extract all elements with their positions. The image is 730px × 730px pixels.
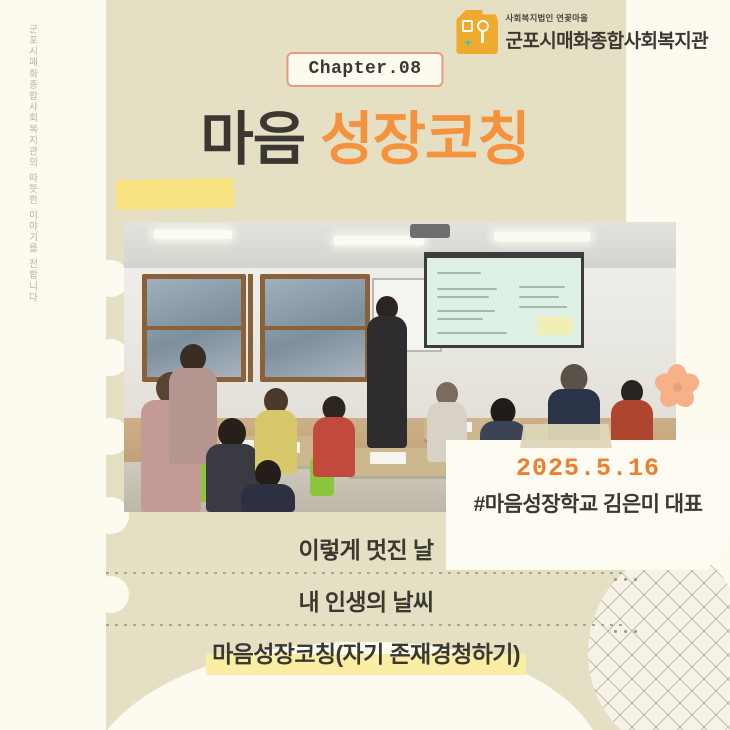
organization-logo: 사회복지법인 연꽃마을 군포시매화종합사회복지관: [456, 10, 708, 54]
beige-tape-decoration: [520, 424, 612, 448]
list-item: 이렇게 멋진 날: [106, 522, 626, 574]
event-date: 2025.5.16: [446, 454, 730, 483]
list-item: 마음성장코칭(자기 존재경청하기): [106, 626, 626, 678]
line-text-3: 마음성장코칭(자기 존재경청하기): [212, 635, 520, 669]
logo-name: 군포시매화종합사회복지관: [505, 26, 708, 53]
chapter-badge: Chapter.08: [286, 52, 443, 87]
event-host: #마음성장학교 김은미 대표: [446, 488, 730, 518]
line-text-2: 내 인생의 날씨: [299, 583, 434, 617]
page-title: 마음 성장코칭: [0, 92, 730, 176]
title-part-2: 성장코칭: [320, 107, 529, 172]
yellow-tape-decoration: [116, 178, 235, 210]
maehwa-logo-icon: [456, 10, 498, 54]
logo-subtitle: 사회복지법인 연꽃마을: [505, 12, 708, 24]
bottom-lines: 이렇게 멋진 날 내 인생의 날씨 마음성장코칭(자기 존재경청하기): [106, 522, 626, 678]
poster-canvas: 군포시매화종합사회복지관의 따뜻한 이야기를 전합니다 사회복지법인 연꽃마을 …: [0, 0, 730, 730]
flower-icon: [652, 362, 702, 412]
list-item: 내 인생의 날씨: [106, 574, 626, 626]
title-part-1: 마음: [200, 107, 305, 172]
line-text-1: 이렇게 멋진 날: [299, 531, 434, 565]
